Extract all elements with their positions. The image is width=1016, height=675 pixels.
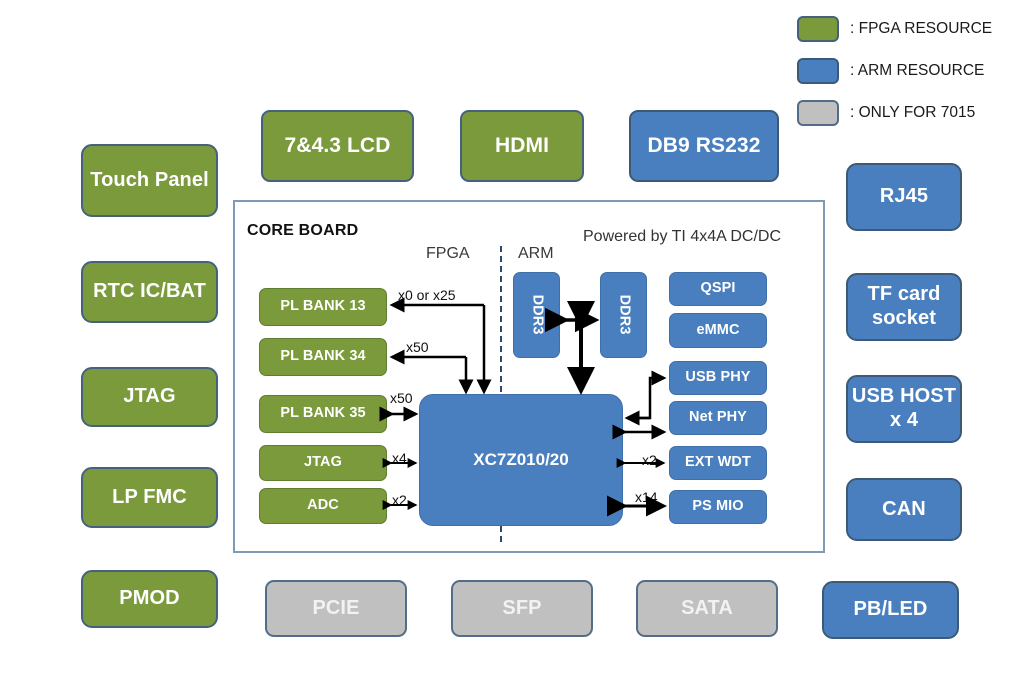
block-touch-panel[interactable]: Touch Panel — [81, 144, 218, 217]
mult-pl-bank-34: x50 — [406, 339, 429, 355]
block-ddr3-left[interactable]: DDR3 — [513, 272, 560, 358]
block-ps-mio[interactable]: PS MIO — [669, 490, 767, 524]
mult-ps-mio: x14 — [635, 489, 658, 505]
legend-item-arm: : ARM RESOURCE — [797, 54, 1012, 88]
block-sfp[interactable]: SFP — [451, 580, 593, 637]
block-ext-wdt[interactable]: EXT WDT — [669, 446, 767, 480]
block-hdmi[interactable]: HDMI — [460, 110, 584, 182]
legend-label-7015: : ONLY FOR 7015 — [850, 104, 975, 122]
legend-item-7015: : ONLY FOR 7015 — [797, 96, 1012, 130]
block-pl-bank-35[interactable]: PL BANK 35 — [259, 395, 387, 433]
mult-adc: x2 — [392, 492, 407, 508]
block-can[interactable]: CAN — [846, 478, 962, 541]
block-ddr3-right-label: DDR3 — [615, 295, 632, 335]
block-rtc-ic-bat[interactable]: RTC IC/BAT — [81, 261, 218, 323]
mult-ext-wdt: x2 — [642, 452, 657, 468]
block-pcie[interactable]: PCIE — [265, 580, 407, 637]
core-board-title: CORE BOARD — [247, 222, 358, 240]
block-ddr3-right[interactable]: DDR3 — [600, 272, 647, 358]
block-jtag-core[interactable]: JTAG — [259, 445, 387, 481]
block-lp-fmc[interactable]: LP FMC — [81, 467, 218, 528]
block-soc-xc7z[interactable]: XC7Z010/20 — [419, 394, 623, 526]
arm-section-label: ARM — [518, 245, 554, 263]
block-diagram-canvas: : FPGA RESOURCE : ARM RESOURCE : ONLY FO… — [0, 0, 1016, 675]
fpga-section-label: FPGA — [426, 245, 470, 263]
block-db9-rs232[interactable]: DB9 RS232 — [629, 110, 779, 182]
block-usb-host[interactable]: USB HOST x 4 — [846, 375, 962, 443]
block-adc[interactable]: ADC — [259, 488, 387, 524]
legend: : FPGA RESOURCE : ARM RESOURCE : ONLY FO… — [797, 12, 1012, 138]
legend-swatch-7015 — [797, 100, 839, 126]
block-jtag-left[interactable]: JTAG — [81, 367, 218, 427]
block-tf-card-socket[interactable]: TF card socket — [846, 273, 962, 341]
block-sata[interactable]: SATA — [636, 580, 778, 637]
block-ddr3-left-label: DDR3 — [528, 295, 545, 335]
block-emmc[interactable]: eMMC — [669, 313, 767, 348]
block-pb-led[interactable]: PB/LED — [822, 581, 959, 639]
legend-item-fpga: : FPGA RESOURCE — [797, 12, 1012, 46]
block-rj45[interactable]: RJ45 — [846, 163, 962, 231]
mult-jtag-core: x4 — [392, 450, 407, 466]
mult-pl-bank-35: x50 — [390, 390, 413, 406]
block-net-phy[interactable]: Net PHY — [669, 401, 767, 435]
block-pmod[interactable]: PMOD — [81, 570, 218, 628]
power-note-label: Powered by TI 4x4A DC/DC — [583, 228, 781, 246]
legend-label-arm: : ARM RESOURCE — [850, 62, 984, 80]
mult-pl-bank-13: x0 or x25 — [398, 287, 456, 303]
block-lcd[interactable]: 7&4.3 LCD — [261, 110, 414, 182]
block-pl-bank-34[interactable]: PL BANK 34 — [259, 338, 387, 376]
block-pl-bank-13[interactable]: PL BANK 13 — [259, 288, 387, 326]
legend-swatch-fpga — [797, 16, 839, 42]
block-usb-phy[interactable]: USB PHY — [669, 361, 767, 395]
legend-swatch-arm — [797, 58, 839, 84]
legend-label-fpga: : FPGA RESOURCE — [850, 20, 992, 38]
block-qspi[interactable]: QSPI — [669, 272, 767, 306]
